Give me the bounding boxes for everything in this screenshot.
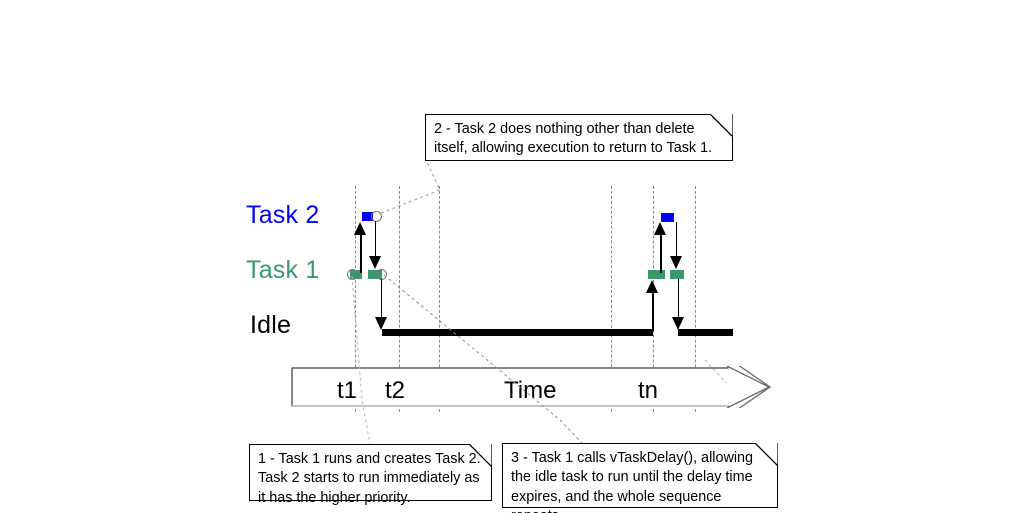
- connector-dot-task1-left-a: [347, 269, 358, 280]
- axis-tick-t1: t1: [337, 377, 357, 405]
- callout-text-2: 2 - Task 2 does nothing other than delet…: [434, 120, 723, 159]
- task1-block-right-a: [648, 270, 665, 279]
- axis-tick-tn: tn: [638, 377, 658, 405]
- transition-arrowhead-task2-to-task1-left: [369, 256, 381, 269]
- callout-box-2: 2 - Task 2 does nothing other than delet…: [425, 114, 733, 161]
- callout-fold-icon-1: [469, 444, 492, 467]
- transition-arrowhead-task2-to-task1-right: [670, 256, 682, 269]
- task2-block-right: [661, 213, 674, 222]
- axis-tick-t2: t2: [385, 377, 405, 405]
- task1-block-right-b: [670, 270, 684, 279]
- callout-text-3: 3 - Task 1 calls vTaskDelay(), allowing …: [511, 449, 768, 513]
- axis-name-time: Time: [504, 377, 556, 405]
- row-label-task1: Task 1: [246, 258, 319, 283]
- callout-fold-icon-3: [755, 443, 778, 466]
- row-label-task2: Task 2: [246, 203, 319, 228]
- callout-text-1: 1 - Task 1 runs and creates Task 2. Task…: [258, 450, 482, 508]
- leader-line-callout-2: [381, 160, 440, 213]
- transition-arrowhead-task1-to-task2-right: [654, 222, 666, 235]
- transition-arrowhead-idle-to-task1-right: [646, 280, 658, 293]
- idle-bar-1: [382, 329, 653, 336]
- leader-line-callout-3: [384, 275, 582, 443]
- transition-line-task2-to-task1-left: [375, 221, 376, 261]
- connector-dot-task2-left: [371, 211, 382, 222]
- transition-arrowhead-task1-to-idle-right: [672, 317, 684, 330]
- transition-arrowhead-task1-to-task2-left: [354, 222, 366, 235]
- callout-leader-lines: [0, 0, 1021, 513]
- idle-bar-2: [678, 329, 733, 336]
- transition-line-task1-to-idle-left: [381, 279, 382, 321]
- callout-fold-icon-2: [710, 114, 733, 137]
- diagram-canvas: Task 2 Task 1 Idle: [0, 0, 1021, 513]
- callout-box-3: 3 - Task 1 calls vTaskDelay(), allowing …: [502, 443, 778, 508]
- row-label-idle: Idle: [250, 313, 291, 338]
- transition-line-task1-to-idle-right: [678, 279, 679, 321]
- callout-box-1: 1 - Task 1 runs and creates Task 2. Task…: [249, 444, 492, 501]
